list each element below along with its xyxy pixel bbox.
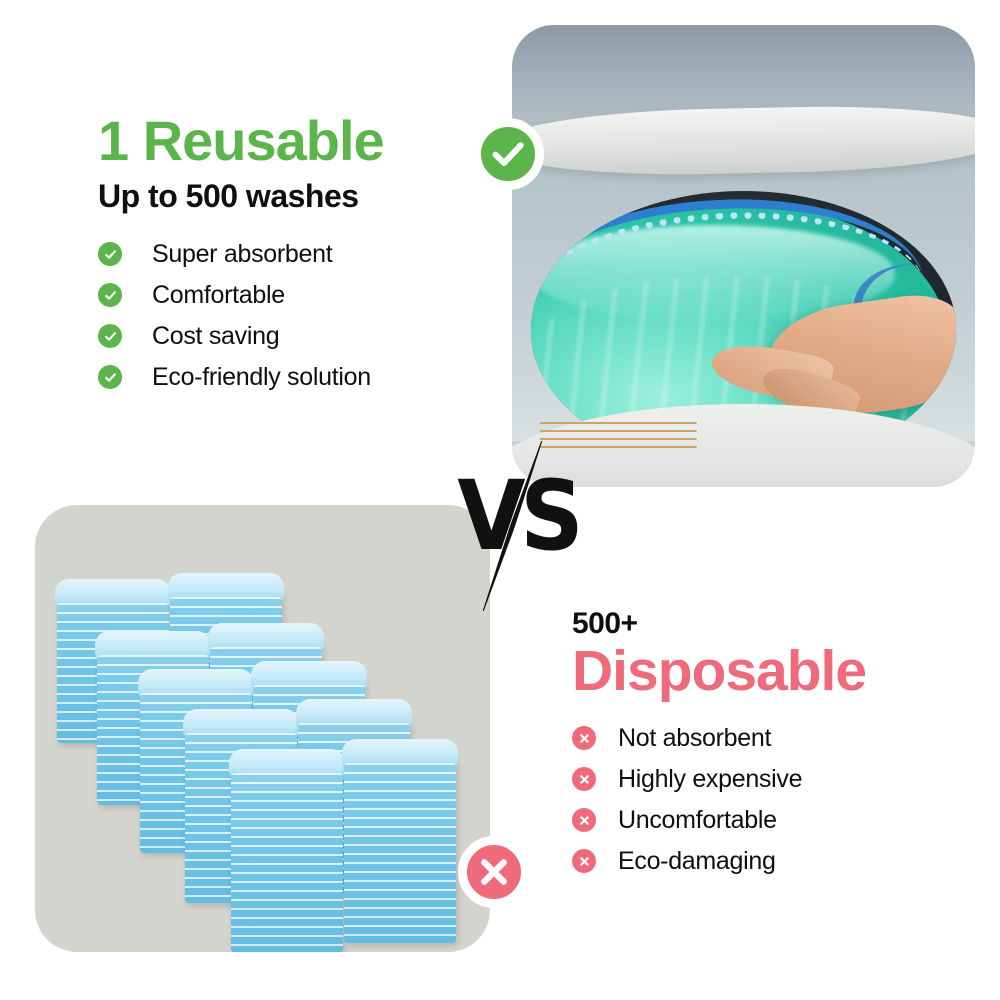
reusable-heading: 1 Reusable — [98, 112, 478, 171]
wooden-sticks — [540, 422, 697, 459]
disposable-feature-list: Not absorbent Highly expensive Uncomfort… — [572, 724, 972, 876]
list-item: Super absorbent — [98, 240, 478, 269]
disposable-heading: Disposable — [572, 642, 972, 702]
list-item: Highly expensive — [572, 765, 972, 794]
reusable-panel: 1 Reusable Up to 500 washes Super absorb… — [98, 112, 478, 404]
list-item: Cost saving — [98, 322, 478, 351]
reusable-subheading: Up to 500 washes — [98, 179, 478, 214]
x-icon — [572, 726, 596, 750]
list-item-label: Comfortable — [152, 281, 285, 310]
check-icon — [98, 283, 122, 307]
list-item: Eco-friendly solution — [98, 363, 478, 392]
stick-4 — [540, 446, 697, 448]
check-circle-icon — [472, 118, 544, 190]
reusable-product-photo — [512, 25, 975, 487]
stick-2 — [540, 430, 697, 432]
check-icon — [98, 242, 122, 266]
list-item-label: Eco-friendly solution — [152, 363, 371, 392]
x-icon — [572, 849, 596, 873]
list-item-label: Uncomfortable — [618, 806, 777, 835]
list-item-label: Super absorbent — [152, 240, 332, 269]
list-item-label: Eco-damaging — [618, 847, 776, 876]
x-icon — [572, 767, 596, 791]
disposable-count-label: 500+ — [572, 607, 972, 640]
list-item-label: Not absorbent — [618, 724, 771, 753]
check-icon — [98, 365, 122, 389]
stick-3 — [540, 438, 697, 440]
list-item-label: Cost saving — [152, 322, 279, 351]
list-item-label: Highly expensive — [618, 765, 802, 794]
list-item: Uncomfortable — [572, 806, 972, 835]
list-item: Eco-damaging — [572, 847, 972, 876]
comparison-infographic: VS 1 Reusable Up to 500 washes Super abs… — [0, 0, 1000, 1000]
reusable-feature-list: Super absorbent Comfortable Cost saving … — [98, 240, 478, 392]
list-item: Comfortable — [98, 281, 478, 310]
stick-1 — [540, 422, 697, 424]
pad-stack — [231, 763, 343, 952]
list-item: Not absorbent — [572, 724, 972, 753]
disposable-product-photo — [35, 505, 490, 952]
pad-stack — [344, 753, 456, 943]
check-icon — [98, 324, 122, 348]
disposable-panel: 500+ Disposable Not absorbent Highly exp… — [572, 607, 972, 888]
x-circle-icon — [458, 836, 530, 908]
x-icon — [572, 808, 596, 832]
